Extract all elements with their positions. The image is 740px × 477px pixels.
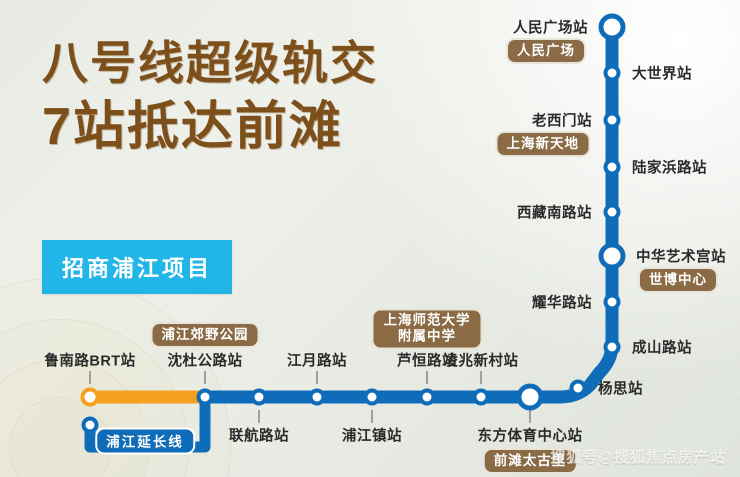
station-tick bbox=[316, 371, 318, 384]
station-label-yangsi: 杨思站 bbox=[598, 378, 643, 399]
landmark-badge-renmin-guangchang: 人民广场 bbox=[506, 38, 586, 64]
station-marker-dashijie[interactable] bbox=[604, 65, 621, 82]
station-marker-luheng-lu[interactable] bbox=[419, 389, 436, 406]
station-label-chengshan-lu: 成山路站 bbox=[632, 337, 692, 358]
station-marker-xizang-nanlu[interactable] bbox=[604, 204, 621, 221]
station-marker-yangsi[interactable] bbox=[570, 380, 587, 397]
station-label-yaohua-lu: 耀华路站 bbox=[532, 292, 592, 313]
station-tick bbox=[371, 410, 373, 423]
landmark-badge-shendu-gonglu: 浦江郊野公园 bbox=[151, 322, 260, 348]
station-label-laoximen: 老西门站 bbox=[532, 110, 592, 131]
landmark-badge-zhonghua-yishugong: 世博中心 bbox=[638, 267, 718, 293]
station-marker-jiangyue-lu[interactable] bbox=[309, 389, 326, 406]
station-marker-laoximen[interactable] bbox=[604, 112, 621, 129]
station-marker-shendu-gonglu[interactable] bbox=[197, 389, 214, 406]
station-tick bbox=[529, 410, 531, 423]
poster-canvas: 八号线超级轨交 7站抵达前滩 招商浦江项目 鲁南路BRT站沈杜公路站浦江郊野公园… bbox=[0, 0, 740, 477]
station-marker-zhonghua-yishugong[interactable] bbox=[599, 243, 626, 270]
station-marker-yaohua-lu[interactable] bbox=[604, 294, 621, 311]
station-label-shendu-gonglu: 沈杜公路站 bbox=[168, 350, 243, 371]
station-marker-lianhang-lu[interactable] bbox=[251, 389, 268, 406]
watermark: 搜狐号@搜狐焦点房产站 bbox=[550, 446, 726, 467]
station-marker-lujiabang-lu[interactable] bbox=[604, 159, 621, 176]
station-marker-lunanlu-brt[interactable] bbox=[81, 388, 100, 407]
station-marker-renmin-guangchang[interactable] bbox=[599, 14, 626, 41]
station-tick bbox=[426, 371, 428, 384]
station-marker-lingzhao-xincun[interactable] bbox=[473, 389, 490, 406]
station-tick bbox=[480, 371, 482, 384]
station-label-xizang-nanlu: 西藏南路站 bbox=[517, 202, 592, 223]
station-label-jiangyue-lu: 江月路站 bbox=[287, 350, 347, 371]
station-marker-pujiang-zhen[interactable] bbox=[364, 389, 381, 406]
landmark-badge-laoximen: 上海新天地 bbox=[496, 131, 591, 157]
branch-name-plate: 浦江延长线 bbox=[95, 428, 195, 455]
station-label-dongfang-tiyu: 东方体育中心站 bbox=[478, 425, 583, 446]
station-label-renmin-guangchang: 人民广场站 bbox=[513, 17, 588, 38]
station-label-lianhang-lu: 联航路站 bbox=[229, 425, 289, 446]
station-label-lingzhao-xincun: 凌兆新村站 bbox=[444, 350, 519, 371]
station-label-lujiabang-lu: 陆家浜路站 bbox=[632, 157, 707, 178]
station-label-lunanlu-brt: 鲁南路BRT站 bbox=[44, 350, 135, 371]
station-label-pujiang-zhen: 浦江镇站 bbox=[342, 425, 402, 446]
station-tick bbox=[89, 371, 91, 384]
station-marker-chengshan-lu[interactable] bbox=[604, 339, 621, 356]
station-marker-dongfang-tiyu[interactable] bbox=[517, 384, 544, 411]
station-label-dashijie: 大世界站 bbox=[632, 63, 692, 84]
station-tick bbox=[258, 410, 260, 423]
station-tick bbox=[204, 371, 206, 384]
station-label-zhonghua-yishugong: 中华艺术宫站 bbox=[636, 246, 726, 267]
landmark-badge-luheng-lu: 上海师范大学附属中学 bbox=[372, 309, 483, 350]
